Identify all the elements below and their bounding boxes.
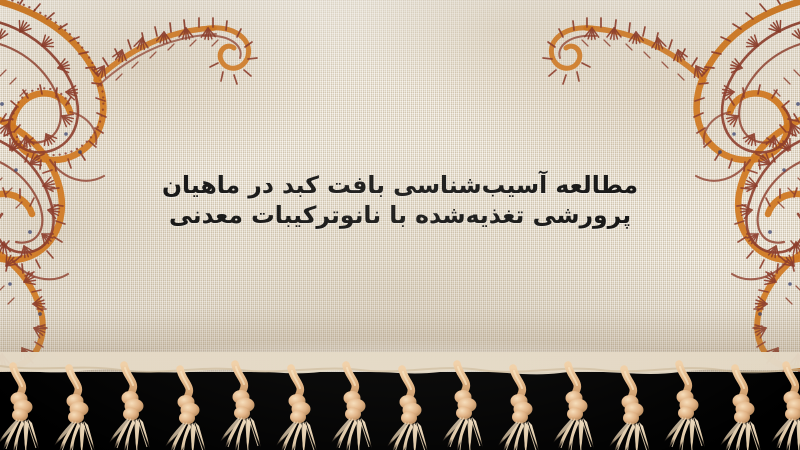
fabric-weave-texture: [0, 0, 800, 372]
tassel-row: [0, 364, 800, 450]
fabric-panel: [0, 0, 800, 372]
slide-canvas: مطالعه آسیب‌شناسی بافت کبد در ماهیان پرو…: [0, 0, 800, 450]
